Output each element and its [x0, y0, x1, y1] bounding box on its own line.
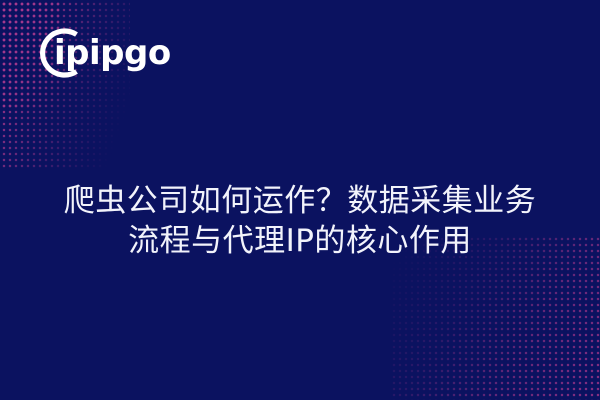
promo-banner: ipipgo 爬虫公司如何运作？数据采集业务 流程与代理IP的核心作用 — [0, 0, 600, 400]
brand-logo[interactable]: ipipgo — [30, 20, 190, 84]
page-title-line-1: 爬虫公司如何运作？数据采集业务 — [24, 181, 576, 221]
page-title: 爬虫公司如何运作？数据采集业务 流程与代理IP的核心作用 — [0, 181, 600, 261]
brand-wordmark: ipipgo — [54, 33, 171, 73]
page-title-line-2: 流程与代理IP的核心作用 — [24, 221, 576, 261]
